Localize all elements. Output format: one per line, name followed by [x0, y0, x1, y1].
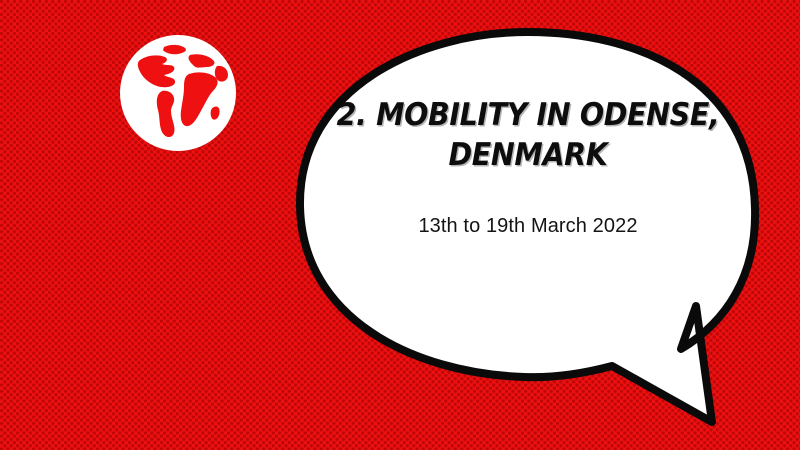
globe-icon — [118, 33, 238, 153]
speech-bubble — [286, 18, 786, 438]
slide-canvas: 2. Mobility in Odense, Denmark 13th to 1… — [0, 0, 800, 450]
